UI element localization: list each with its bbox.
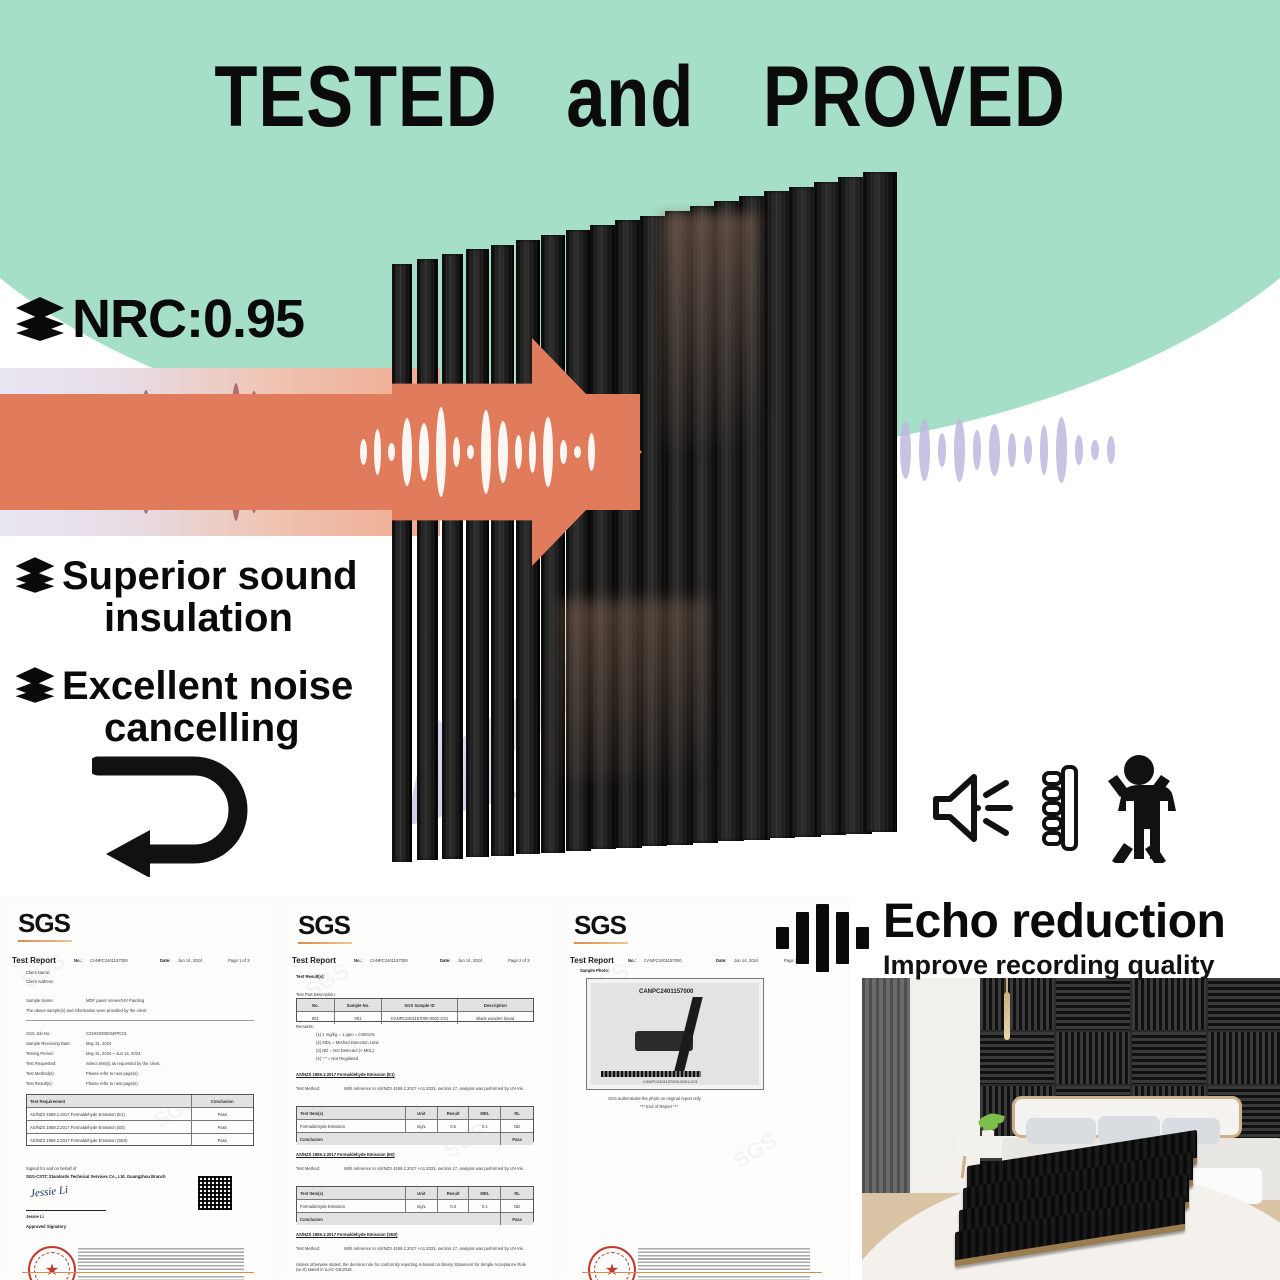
arrow-inner-waveform — [0, 394, 740, 510]
sound-direction-arrow — [0, 368, 780, 536]
echo-bar — [836, 912, 849, 964]
feature-line-2: insulation — [62, 597, 358, 639]
td-rl: ND — [501, 1200, 533, 1212]
panel-slat — [417, 259, 438, 860]
remarks-label: Remarks: — [296, 1024, 314, 1029]
photo-ruler — [601, 1071, 701, 1077]
test-result-table: Test Item(s) Unit Result MDL RL Formalde… — [296, 1186, 534, 1222]
arrow-wave-bar — [436, 407, 446, 497]
official-stamp: ★ — [28, 1246, 76, 1280]
table-header-row: Test Item(s) Unit Result MDL RL — [297, 1187, 533, 1200]
panel-slat — [442, 254, 463, 859]
arrow-wave-bar — [574, 446, 581, 458]
test-result-table: Test Item(s) Unit Result MDL RL Formalde… — [296, 1106, 534, 1142]
conclusion-table: Test Requirement Conclusion AS/NZS 4859.… — [26, 1094, 254, 1146]
sample-desc-label: Test Part Description: — [296, 992, 336, 997]
arrow-wave-bar — [515, 435, 522, 469]
report-date-value: Jun 14, 2024 — [734, 958, 758, 963]
doc-title: Test Report — [570, 956, 614, 965]
test-heading: AS/NZS 1859.1:2017 Formaldehyde Emission… — [296, 1232, 397, 1237]
meta-label: SGS Job No.: — [26, 1031, 52, 1036]
report-page: Page 2 of 3 — [508, 958, 529, 963]
td-conclusion: Pass — [501, 1133, 533, 1145]
divider — [26, 1020, 254, 1021]
outgoing-wave-bar — [954, 418, 965, 482]
table-row: AS/NZS 1859.2:2017 Formaldehyde Emission… — [27, 1134, 253, 1146]
remark-item: (1) 1 mg/kg = 1 ppm = 0.0001% — [316, 1032, 375, 1037]
person-covering-ears-icon — [1096, 753, 1182, 863]
page-title: TESTED and PROVED — [115, 52, 1165, 142]
td-unit: mg/L — [406, 1200, 438, 1212]
table-header-row: Test Item(s) Unit Result MDL RL — [297, 1107, 533, 1120]
feature-line-1: Excellent noise — [62, 664, 353, 708]
section-title: Test Result(s): — [296, 974, 325, 979]
acoustic-panel-icon — [1036, 765, 1082, 851]
outgoing-wave-bar — [1091, 440, 1099, 460]
td-unit: mg/L — [406, 1120, 438, 1132]
method-label: Test Method: — [296, 1246, 320, 1251]
report-date-value: Jun 14, 2024 — [178, 958, 202, 963]
meta-value: Please refer to next page(s). — [86, 1071, 139, 1076]
nrc-label: NRC:0.95 — [72, 292, 304, 346]
signoff-label: Signed for and on behalf of — [26, 1166, 76, 1171]
table-header-row: No. Sample No. SGS Sample ID Description — [297, 999, 533, 1012]
footer-legal-text — [638, 1248, 810, 1272]
td-sample-no: 001 — [335, 1012, 383, 1024]
td-result: 0.3 — [438, 1200, 470, 1212]
td-test-item: Formaldehyde Emission — [297, 1120, 406, 1132]
watermark: SGS — [729, 1128, 782, 1175]
td-conclusion: Pass — [192, 1134, 253, 1146]
report-no-label: No.: — [354, 958, 362, 963]
echo-bar — [776, 927, 789, 949]
td-conclusion: Pass — [192, 1121, 253, 1133]
report-no-value: CANPC2401157000 — [90, 958, 128, 963]
signer-name: Jessie Li — [26, 1214, 44, 1219]
arrow-wave-bar — [453, 437, 460, 467]
arrow-wave-bar — [543, 417, 553, 487]
th-mdl: MDL — [469, 1107, 501, 1119]
layers-stack-icon — [14, 665, 56, 705]
window-curtain — [862, 978, 910, 1213]
td-conclusion-label: Conclusion — [297, 1133, 501, 1145]
plant-pot — [982, 1130, 994, 1141]
method-label: Test Method: — [296, 1166, 320, 1171]
th-unit: Unit — [406, 1107, 438, 1119]
echo-bar — [816, 904, 829, 972]
echo-reduction-block: Echo reduction Improve recording quality — [776, 898, 1225, 980]
arrow-wave-bar — [402, 418, 412, 486]
td-requirement: AS/NZS 1859.2:2017 Formaldehyde Emission… — [27, 1121, 192, 1133]
arrow-wave-bar — [467, 445, 474, 459]
outgoing-wave-bar — [1024, 436, 1032, 464]
td-conclusion: Pass — [501, 1213, 533, 1225]
th-result: Result — [438, 1107, 470, 1119]
field-value: MDF panel Veneer/UV Painting — [86, 998, 144, 1003]
echo-text: Echo reduction Improve recording quality — [883, 898, 1225, 980]
speaker-sound-icon — [930, 769, 1022, 847]
signoff-company: SGS-CSTC Standards Technical Services Co… — [26, 1174, 166, 1179]
photo-code: CANPC2401157000 — [639, 989, 693, 995]
td-rl: ND — [501, 1120, 533, 1132]
echo-subtitle: Improve recording quality — [883, 950, 1225, 980]
echo-bar — [796, 912, 809, 964]
th-test-item: Test Item(s) — [297, 1107, 406, 1119]
meta-value: Select test(s) as requested by the clien… — [86, 1061, 160, 1066]
arrow-wave-bar — [419, 423, 429, 481]
th-conclusion: Conclusion — [192, 1095, 253, 1107]
panel-slat — [590, 225, 616, 849]
stamp-star-icon: ★ — [594, 1252, 630, 1280]
table-row-conclusion: Conclusion Pass — [297, 1213, 533, 1225]
meta-value: May 31, 2024 — [86, 1041, 111, 1046]
method-text: With reference to AS/NZS 4266.1:2017 +A1… — [344, 1166, 524, 1171]
outgoing-wave-bar — [919, 419, 930, 481]
meta-label: Test Requested: — [26, 1061, 56, 1066]
bedroom-scene — [862, 978, 1280, 1280]
th-requirement: Test Requirement — [27, 1095, 192, 1107]
table-row: AS/NZS 4859.1:2017 Formaldehyde Emission… — [27, 1108, 253, 1121]
th-rl: RL — [501, 1107, 533, 1119]
doc-footnote: Unless otherwise stated, the decision ru… — [296, 1262, 534, 1272]
layers-stack-icon — [14, 555, 56, 595]
echo-bar — [856, 927, 869, 949]
feature-line-1: Superior sound — [62, 554, 358, 598]
th-unit: Unit — [406, 1187, 438, 1199]
photo-footer-note: SGS authenticate the photo on original r… — [608, 1096, 701, 1101]
feature-text: Superior sound insulation — [62, 555, 358, 639]
sample-photo: CANPC2401157000 CANPC2401157000-0001-C01 — [586, 978, 764, 1090]
arrow-wave-bar — [360, 439, 367, 465]
title-word-tested: TESTED — [214, 49, 497, 145]
footer-legal-text — [78, 1248, 244, 1272]
report-no-value: CANPC2401157000 — [370, 958, 408, 963]
stamp-star-icon: ★ — [34, 1252, 70, 1280]
feature-noise-cancelling: Excellent noise cancelling — [14, 665, 353, 749]
audio-waveform-icon — [776, 904, 869, 972]
footer-divider — [582, 1272, 822, 1273]
th-test-item: Test Item(s) — [297, 1187, 406, 1199]
table-header-row: Test Requirement Conclusion — [27, 1095, 253, 1108]
outgoing-wave-bar — [1040, 425, 1048, 475]
nrc-rating: NRC:0.95 — [14, 292, 304, 346]
method-text: With reference to AS/NZS 4266.1:2017 +A1… — [344, 1086, 524, 1091]
td-test-item: Formaldehyde Emission — [297, 1200, 406, 1212]
method-label: Test Method: — [296, 1086, 320, 1091]
meta-label: Test Result(s): — [26, 1081, 53, 1086]
doc-note: The above sample(s) and information were… — [26, 1008, 146, 1013]
sgs-report-page-2[interactable]: SGS SGS SGS Test Report No.: CANPC240115… — [282, 898, 558, 1280]
table-row-conclusion: Conclusion Pass — [297, 1133, 533, 1145]
outgoing-wave-bar — [973, 430, 981, 470]
remark-item: (2) MDL = Method Detection Limit — [316, 1040, 379, 1045]
arrow-wave-bar — [374, 429, 381, 475]
test-heading: AS/NZS 1859.1:2017 Formaldehyde Emission… — [296, 1072, 395, 1077]
report-no-value: CANPC2401157000 — [644, 958, 682, 963]
pillow — [1026, 1118, 1096, 1144]
feature-line-2: cancelling — [62, 707, 353, 749]
benefit-icon-row — [930, 728, 1220, 888]
td-requirement: AS/NZS 1859.2:2017 Formaldehyde Emission… — [27, 1134, 192, 1146]
report-date-label: Date: — [440, 958, 450, 963]
footer-contact-text — [638, 1276, 810, 1280]
report-no-label: No.: — [628, 958, 636, 963]
arrow-wave-bar — [498, 421, 508, 483]
th-result: Result — [438, 1187, 470, 1199]
report-date-label: Date: — [160, 958, 170, 963]
outgoing-wave-bar — [938, 433, 946, 467]
arrow-wave-bar — [481, 410, 491, 494]
test-heading: AS/NZS 1859.1:2017 Formaldehyde Emission… — [296, 1152, 395, 1157]
th-rl: RL — [501, 1187, 533, 1199]
th-sample-no: Sample No. — [335, 999, 383, 1011]
td-description: Black wooden board — [458, 1012, 533, 1024]
table-row: AS/NZS 1859.2:2017 Formaldehyde Emission… — [27, 1121, 253, 1134]
title-word-and: and — [566, 49, 694, 145]
remark-item: (4) "-" = Not Regulated — [316, 1056, 358, 1061]
photo-caption: CANPC2401157000-0001-C01 — [643, 1079, 698, 1084]
arrow-wave-bar — [560, 440, 567, 464]
meta-value: CZHO4000034#PC01 — [86, 1031, 127, 1036]
remark-item: (3) ND = Not Detected (< MDL) — [316, 1048, 374, 1053]
sgs-logo: SGS — [574, 910, 626, 941]
product-infographic: TESTED and PROVED — [0, 0, 1280, 1280]
footer-divider — [22, 1272, 254, 1273]
panel-slat — [863, 172, 897, 832]
td-mdl: 0.1 — [469, 1200, 501, 1212]
echo-title: Echo reduction — [883, 898, 1225, 946]
outgoing-attenuated-waveform — [900, 400, 1180, 500]
sgs-logo: SGS — [298, 910, 350, 941]
meta-label: Sample Receiving Date: — [26, 1041, 71, 1046]
outgoing-wave-bar — [989, 424, 1000, 476]
panel-slat — [566, 230, 591, 851]
th-mdl: MDL — [469, 1187, 501, 1199]
meta-value: Please refer to next page(s). — [86, 1081, 139, 1086]
sample-table: No. Sample No. SGS Sample ID Description… — [296, 998, 534, 1022]
photo-label: Sample Photo: — [580, 968, 609, 973]
panel-slat — [491, 245, 514, 856]
layers-stack-icon — [14, 295, 66, 343]
th-description: Description — [458, 999, 533, 1011]
feature-text: Excellent noise cancelling — [62, 665, 353, 749]
td-result: 0.5 — [438, 1120, 470, 1132]
sgs-report-page-1[interactable]: SGS SGS SGS Test Report No.: CANPC240115… — [2, 898, 278, 1280]
arrow-wave-bar — [388, 443, 395, 461]
arrow-wave-bar — [529, 431, 536, 473]
meta-value: May 31, 2024 ~ Jun 14, 2024 — [86, 1051, 140, 1056]
table-row: Formaldehyde Emission mg/L 0.3 0.1 ND — [297, 1200, 533, 1213]
outgoing-wave-bar — [1075, 435, 1083, 465]
stacked-slat-panels — [967, 1148, 1217, 1273]
meta-label: Testing Period: — [26, 1051, 54, 1056]
report-page: Page 1 of 3 — [228, 958, 249, 963]
signature: Jessie Li — [29, 1184, 68, 1200]
doc-title: Test Report — [292, 956, 336, 965]
td-requirement: AS/NZS 4859.1:2017 Formaldehyde Emission… — [27, 1108, 192, 1120]
field-label: Client Name: — [26, 970, 50, 975]
report-no-label: No.: — [74, 958, 82, 963]
title-word-proved: PROVED — [763, 49, 1066, 145]
u-turn-reflection-arrow-icon — [92, 752, 292, 877]
meta-label: Test Method(s): — [26, 1071, 55, 1076]
report-date-label: Date: — [716, 958, 726, 963]
field-label: Sample Name: — [26, 998, 54, 1003]
panel-slat — [466, 249, 488, 857]
outgoing-wave-bar — [900, 421, 911, 479]
official-stamp: ★ — [588, 1246, 636, 1280]
th-no: No. — [297, 999, 335, 1011]
signature-line — [26, 1210, 106, 1211]
td-no: 001 — [297, 1012, 335, 1024]
doc-title: Test Report — [12, 956, 56, 965]
feature-sound-insulation: Superior sound insulation — [14, 555, 358, 639]
outgoing-wave-bar — [1056, 417, 1067, 483]
arrow-wave-bar — [588, 433, 595, 471]
field-label: Client Address: — [26, 979, 54, 984]
outgoing-wave-bar — [1008, 433, 1016, 467]
table-row: 001 001 CANPC2401157000-0001-C01 Black w… — [297, 1012, 533, 1024]
pendant-lamp — [1004, 992, 1010, 1040]
panel-slat — [392, 264, 412, 862]
th-sgs-sample-id: SGS Sample ID — [382, 999, 457, 1011]
td-sgs-sample-id: CANPC2401157000-0001-C01 — [382, 1012, 457, 1024]
signer-title: Approved Signatory — [26, 1224, 66, 1229]
td-conclusion-label: Conclusion — [297, 1213, 501, 1225]
qr-code — [198, 1176, 232, 1210]
outgoing-wave-bar — [1107, 436, 1115, 464]
table-row: Formaldehyde Emission mg/L 0.5 0.1 ND — [297, 1120, 533, 1133]
end-of-report: *** End of Report *** — [640, 1104, 678, 1109]
report-date-value: Jun 14, 2024 — [458, 958, 482, 963]
method-text: With reference to AS/NZS 4266.1:2017 +A1… — [344, 1246, 524, 1251]
footer-contact-text — [78, 1276, 244, 1280]
sgs-logo: SGS — [18, 908, 70, 939]
td-conclusion: Pass — [192, 1108, 253, 1120]
td-mdl: 0.1 — [469, 1120, 501, 1132]
